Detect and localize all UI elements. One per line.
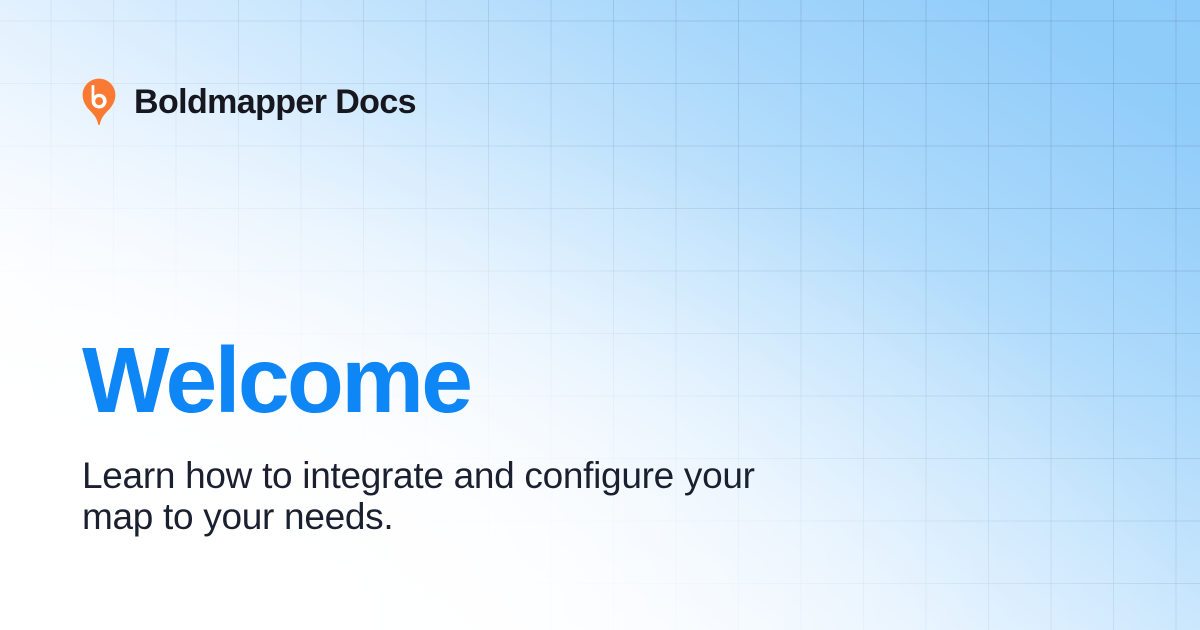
banner-content: Boldmapper Docs Welcome Learn how to int… bbox=[0, 0, 1200, 630]
page-subtitle: Learn how to integrate and configure you… bbox=[82, 455, 812, 537]
page-title: Welcome bbox=[82, 334, 982, 427]
map-pin-b-logo-icon bbox=[82, 78, 116, 126]
hero-text-block: Welcome Learn how to integrate and confi… bbox=[82, 334, 982, 537]
brand-name-label: Boldmapper Docs bbox=[134, 85, 416, 119]
brand-lockup: Boldmapper Docs bbox=[82, 78, 416, 126]
og-banner: Boldmapper Docs Welcome Learn how to int… bbox=[0, 0, 1200, 630]
